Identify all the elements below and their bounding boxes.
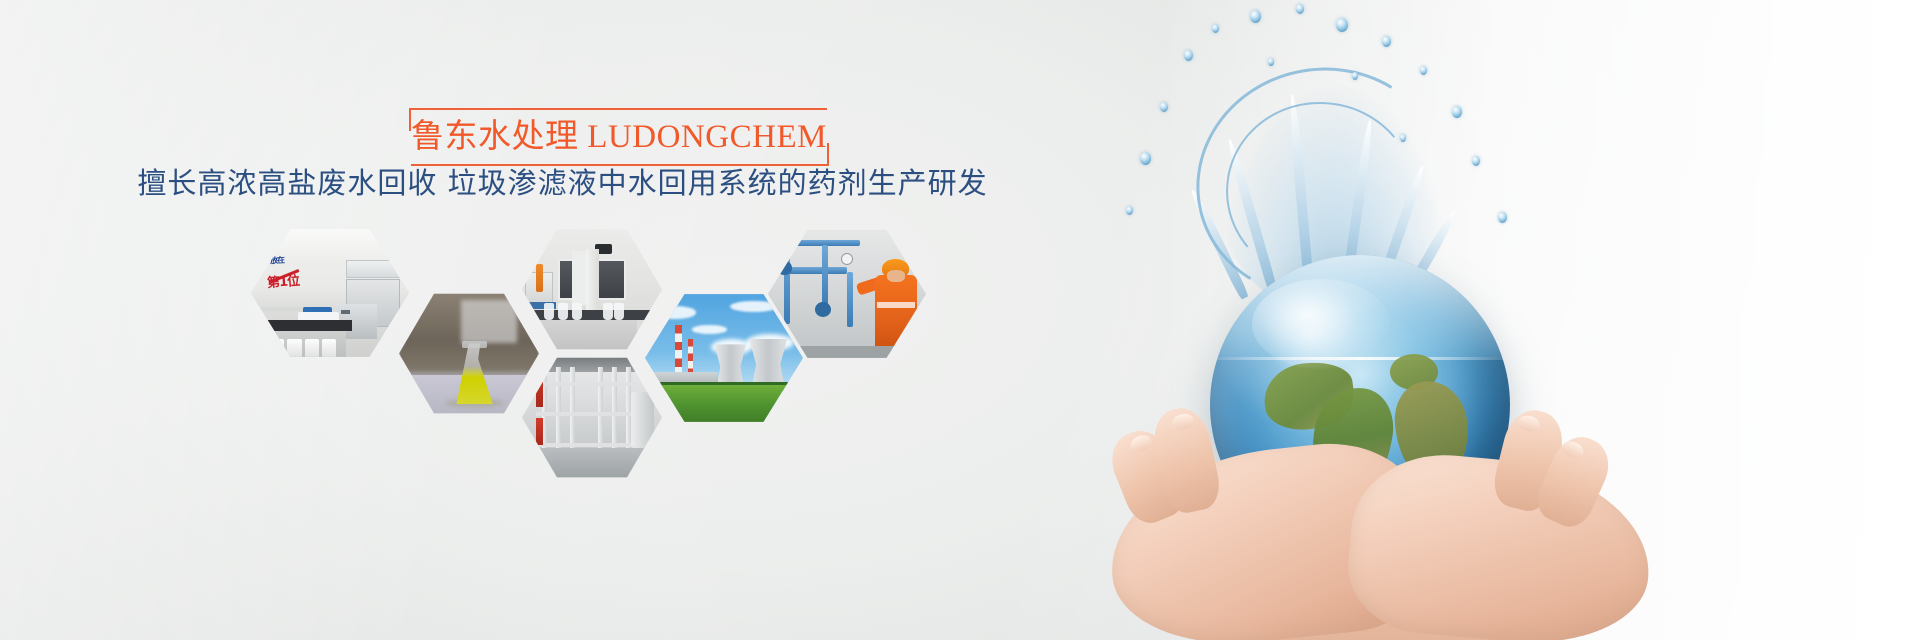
- hands-holding-water-globe: [1040, 0, 1920, 640]
- hex-lab-room[interactable]: 放在 第1位: [251, 225, 409, 361]
- hexagon-photo-cluster: 放在 第1位: [0, 0, 1000, 640]
- hex-lab-slogan-main: 第1位: [266, 270, 299, 291]
- cupped-hands: [1100, 400, 1660, 640]
- hex-pipes[interactable]: [522, 354, 662, 481]
- hex-glassware[interactable]: [522, 226, 662, 353]
- hex-flask[interactable]: [399, 290, 539, 417]
- hero-banner: 鲁东水处理 LUDONGCHEM 擅长高浓高盐废水回收 垃圾渗滤液中水回用系统的…: [0, 0, 1920, 640]
- hex-lab-slogan-top: 放在: [270, 254, 285, 266]
